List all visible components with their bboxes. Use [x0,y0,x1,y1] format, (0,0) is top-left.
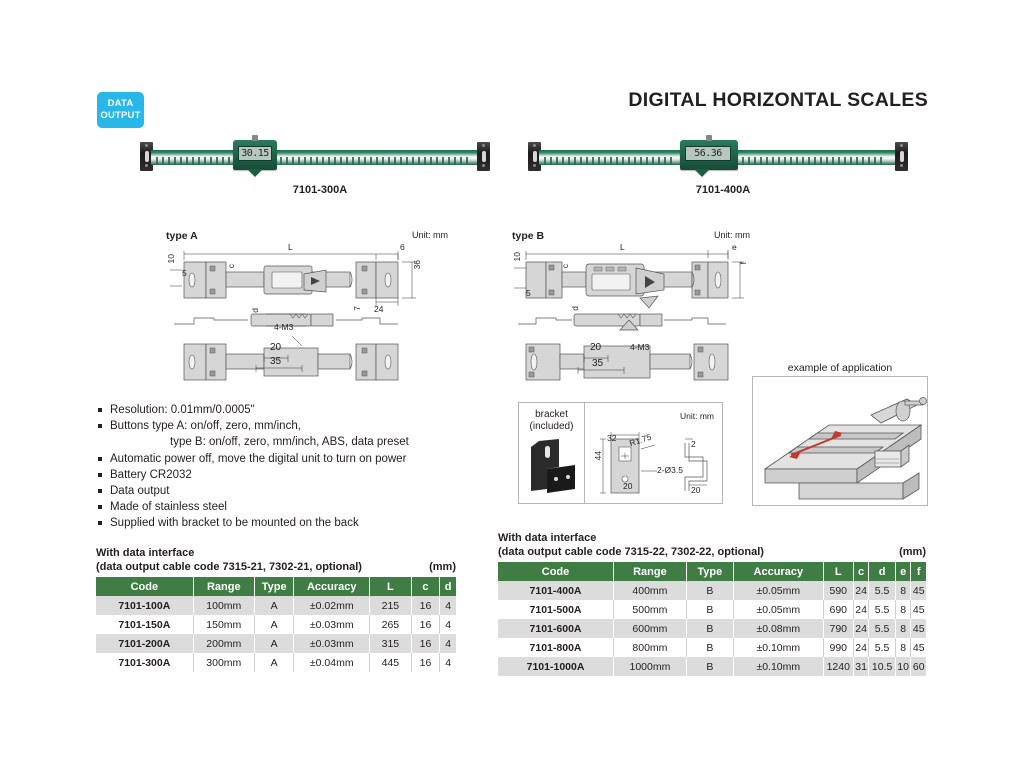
bracket-dim-2: 2 [691,439,696,449]
column-header-range[interactable]: Range [614,562,687,581]
table-row[interactable]: 7101-200A 200mm A ±0.03mm 315 16 4 [96,634,456,653]
column-header-e[interactable]: e [895,562,911,581]
cell-accuracy: ±0.04mm [294,653,370,672]
feature-item: Battery CR2032 [96,467,516,483]
cell-accuracy: ±0.10mm [733,657,823,676]
column-header-code[interactable]: Code [96,577,193,596]
drawing-unit: Unit: mm [714,230,750,240]
cell-type: B [686,657,733,676]
table-type-a-wrapper: With data interface (data output cable c… [96,546,456,672]
cell-range: 400mm [614,581,687,600]
dim-6: 6 [400,242,405,252]
cell-c: 16 [411,653,440,672]
application-illustration [753,377,927,505]
cell-l: 790 [823,619,853,638]
dim-5: 5 [182,268,187,278]
cell-accuracy: ±0.03mm [294,615,370,634]
dim-e: e [732,242,737,252]
cell-c: 16 [411,615,440,634]
table-caption-line-2: (data output cable code 7315-22, 7302-22… [498,545,926,559]
dim-4-m3: 4-M3 [630,342,649,352]
drawing-svg-type-b [512,246,750,392]
bracket-dim-32: 32 [607,433,616,443]
scale-assembly-b: 56.36 [528,138,918,178]
lcd-display: 30.15 [238,146,272,161]
cell-c: 24 [853,638,869,657]
table-row[interactable]: 7101-1000A 1000mm B ±0.10mm 1240 31 10.5… [498,657,926,676]
drawing-title: type A [166,230,448,242]
cell-d: 5.5 [869,638,895,657]
cell-type: B [686,600,733,619]
table-row[interactable]: 7101-100A 100mm A ±0.02mm 215 16 4 [96,596,456,615]
table-type-b-wrapper: With data interface (data output cable c… [498,531,926,676]
cell-f: 45 [911,600,926,619]
table-type-b: Code Range Type Accuracy L c d e f 7101-… [498,562,926,676]
cell-d: 4 [440,596,456,615]
table-caption: With data interface (data output cable c… [498,531,926,559]
table-row[interactable]: 7101-300A 300mm A ±0.04mm 445 16 4 [96,653,456,672]
dim-d: d [570,306,580,311]
cell-type: A [254,653,294,672]
badge-line-2: OUTPUT [100,110,140,122]
cell-code: 7101-200A [96,634,193,653]
cell-type: B [686,619,733,638]
cell-l: 215 [370,596,412,615]
thumbwheel-icon [706,135,712,141]
cell-f: 45 [911,619,926,638]
bracket-dim-2-d35: 2-Ø3.5 [657,465,683,475]
page-title: DIGITAL HORIZONTAL SCALES [628,89,928,112]
bracket-caption-line-1: bracket [519,409,584,421]
column-header-accuracy[interactable]: Accuracy [294,577,370,596]
features-list: Resolution: 0.01mm/0.0005" Buttons type … [96,402,516,532]
cell-range: 150mm [193,615,254,634]
bracket-caption-line-2: (included) [519,421,584,433]
column-header-c[interactable]: c [853,562,869,581]
scale-teeth-left [156,157,234,164]
cell-range: 200mm [193,634,254,653]
dim-35: 35 [270,356,281,367]
dim-10: 10 [512,252,522,261]
table-caption-line-1: With data interface [96,546,456,560]
data-output-badge: DATA OUTPUT [97,92,144,128]
bracket-photo-svg [525,437,591,499]
cell-e: 8 [895,619,911,638]
digital-readout-head: 30.15 [233,140,277,170]
cell-code: 7101-1000A [498,657,614,676]
cell-d: 4 [440,615,456,634]
cell-l: 590 [823,581,853,600]
dim-35: 35 [592,358,603,369]
cell-code: 7101-300A [96,653,193,672]
dim-36: 36 [412,260,422,269]
drawing-svg-type-a [166,246,448,392]
dim-d: d [250,308,260,313]
cell-accuracy: ±0.08mm [733,619,823,638]
product-caption: 7101-300A [140,184,500,196]
bracket-dim-44: 44 [593,451,603,460]
column-header-d[interactable]: d [869,562,895,581]
table-unit: (mm) [899,545,926,559]
feature-item: Buttons type A: on/off, zero, mm/inch, [96,418,516,434]
dim-4-m3: 4-M3 [274,322,293,332]
column-header-code[interactable]: Code [498,562,614,581]
dim-7: 7 [352,306,362,311]
cell-d: 5.5 [869,600,895,619]
scale-teeth-left [544,157,672,164]
cell-accuracy: ±0.05mm [733,581,823,600]
thumbwheel-icon [252,135,258,141]
cell-code: 7101-600A [498,619,614,638]
cell-range: 300mm [193,653,254,672]
cell-code: 7101-500A [498,600,614,619]
cell-code: 7101-400A [498,581,614,600]
cell-code: 7101-150A [96,615,193,634]
product-photo-7101-400a: 56.36 7101-400A [528,138,918,200]
cell-d: 5.5 [869,581,895,600]
application-example-title: example of application [752,362,928,374]
cell-type: A [254,634,294,653]
cell-c: 24 [853,581,869,600]
cell-code: 7101-100A [96,596,193,615]
cell-l: 265 [370,615,412,634]
dim-c: c [226,264,236,268]
scale-teeth-right [736,157,886,164]
dim-24: 24 [374,304,383,314]
cell-type: B [686,581,733,600]
table-row[interactable]: 7101-500A 500mm B ±0.05mm 690 24 5.5 8 4… [498,600,926,619]
cell-e: 10 [895,657,911,676]
cell-d: 4 [440,634,456,653]
dim-5: 5 [526,288,531,298]
cell-accuracy: ±0.05mm [733,600,823,619]
cell-range: 500mm [614,600,687,619]
cell-d: 5.5 [869,619,895,638]
cell-code: 7101-800A [498,638,614,657]
cell-range: 1000mm [614,657,687,676]
cell-e: 8 [895,638,911,657]
cell-l: 445 [370,653,412,672]
feature-item: Automatic power off, move the digital un… [96,451,516,467]
table-row[interactable]: 7101-400A 400mm B ±0.05mm 590 24 5.5 8 4… [498,581,926,600]
bracket-unit: Unit: mm [680,411,714,421]
column-header-d[interactable]: d [440,577,456,596]
feature-item: Made of stainless steel [96,499,516,515]
digital-readout-head: 56.36 [680,140,738,170]
dim-f: f [738,262,748,264]
table-type-a: Code Range Type Accuracy L c d 7101-100A… [96,577,456,672]
cell-l: 990 [823,638,853,657]
cell-e: 8 [895,581,911,600]
cell-type: B [686,638,733,657]
table-header-row: Code Range Type Accuracy L c d [96,577,456,596]
end-plate-right [895,142,908,171]
product-caption: 7101-400A [528,184,918,196]
product-photo-7101-300a: 30.15 7101-300A [140,138,500,200]
cell-c: 16 [411,596,440,615]
table-row[interactable]: 7101-150A 150mm A ±0.03mm 265 16 4 [96,615,456,634]
feature-item: Supplied with bracket to be mounted on t… [96,515,516,531]
table-header-row: Code Range Type Accuracy L c d e f [498,562,926,581]
column-header-l[interactable]: L [823,562,853,581]
column-header-f[interactable]: f [911,562,926,581]
cell-d: 4 [440,653,456,672]
cell-l: 690 [823,600,853,619]
cell-d: 10.5 [869,657,895,676]
column-header-type[interactable]: Type [686,562,733,581]
table-caption: With data interface (data output cable c… [96,546,456,574]
cell-e: 8 [895,600,911,619]
column-header-l[interactable]: L [370,577,412,596]
table-row[interactable]: 7101-600A 600mm B ±0.08mm 790 24 5.5 8 4… [498,619,926,638]
cell-accuracy: ±0.10mm [733,638,823,657]
cell-accuracy: ±0.02mm [294,596,370,615]
scale-assembly-a: 30.15 [140,138,500,178]
scale-teeth-right [280,157,470,164]
cell-l: 1240 [823,657,853,676]
technical-drawing-type-b: type B Unit: mm [512,230,750,390]
dim-L: L [288,242,293,252]
dim-10: 10 [166,254,176,263]
bracket-dim-20a: 20 [623,481,632,491]
table-caption-line-2: (data output cable code 7315-21, 7302-21… [96,560,456,574]
bracket-dim-20b: 20 [691,485,700,495]
cell-range: 600mm [614,619,687,638]
cell-c: 24 [853,600,869,619]
cell-accuracy: ±0.03mm [294,634,370,653]
cell-range: 800mm [614,638,687,657]
feature-item-sub: type B: on/off, zero, mm/inch, ABS, data… [96,434,516,450]
cell-f: 45 [911,638,926,657]
end-plate-right [477,142,490,171]
dim-L: L [620,242,625,252]
feature-item: Data output [96,483,516,499]
cell-c: 24 [853,619,869,638]
dim-20: 20 [590,342,601,353]
cell-type: A [254,596,294,615]
catalog-page: DATA OUTPUT DIGITAL HORIZONTAL SCALES 30… [0,0,1024,768]
table-unit: (mm) [429,560,456,574]
cell-range: 100mm [193,596,254,615]
cell-c: 31 [853,657,869,676]
cell-type: A [254,615,294,634]
cell-l: 315 [370,634,412,653]
table-row[interactable]: 7101-800A 800mm B ±0.10mm 990 24 5.5 8 4… [498,638,926,657]
feature-item: Resolution: 0.01mm/0.0005" [96,402,516,418]
column-header-accuracy[interactable]: Accuracy [733,562,823,581]
column-header-type[interactable]: Type [254,577,294,596]
lcd-display: 56.36 [685,146,731,161]
bracket-detail-box: bracket (included) Unit: mm [518,402,723,504]
application-example-box [752,376,928,506]
dim-c: c [560,264,570,268]
technical-drawing-type-a: type A Unit: mm [166,230,448,390]
bracket-caption: bracket (included) [519,409,584,432]
badge-line-1: DATA [108,98,134,110]
cell-f: 60 [911,657,926,676]
column-header-range[interactable]: Range [193,577,254,596]
cell-c: 16 [411,634,440,653]
cell-f: 45 [911,581,926,600]
column-header-c[interactable]: c [411,577,440,596]
dim-20: 20 [270,342,281,353]
bracket-photo-panel: bracket (included) [519,403,585,503]
table-caption-line-1: With data interface [498,531,926,545]
drawing-unit: Unit: mm [412,230,448,240]
